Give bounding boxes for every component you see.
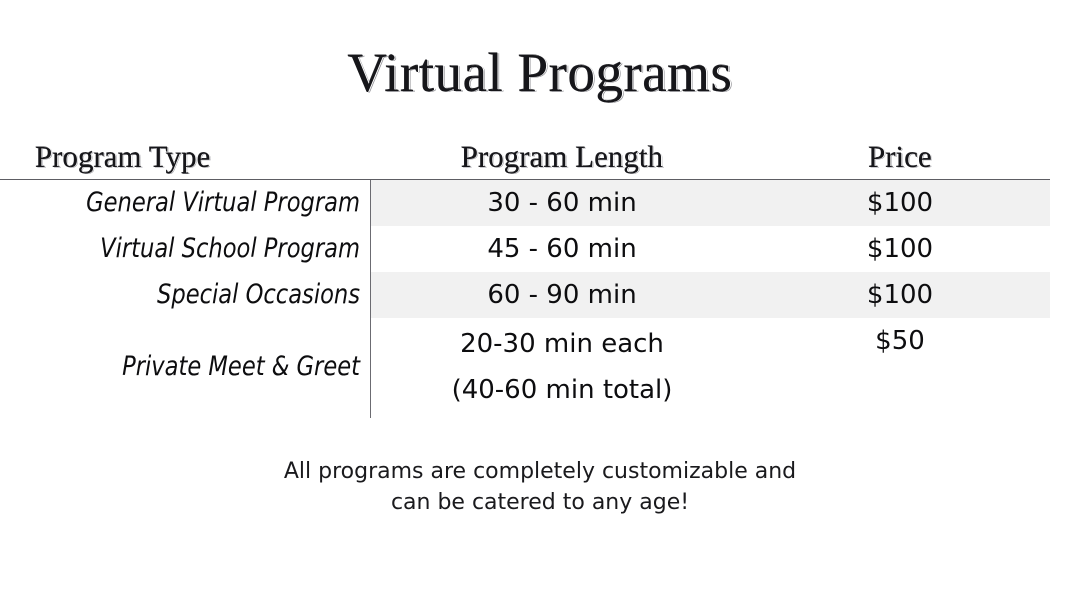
cell-program-length: 60 - 90 min — [372, 272, 752, 318]
table-row: Special Occasions60 - 90 min$100 — [0, 272, 1080, 318]
cell-program-length-line-1: 60 - 90 min — [487, 272, 636, 318]
table-row: Private Meet & Greet20-30 min each(40-60… — [0, 318, 1080, 416]
table-row: General Virtual Program30 - 60 min$100 — [0, 180, 1080, 226]
slide-canvas: Virtual Programs Program Type Program Le… — [0, 0, 1080, 592]
cell-program-length-line-2: (40-60 min total) — [452, 367, 673, 413]
table-body: General Virtual Program30 - 60 min$100Vi… — [0, 180, 1080, 416]
cell-program-length: 45 - 60 min — [372, 226, 752, 272]
cell-program-length-line-1: 45 - 60 min — [487, 226, 636, 272]
cell-program-length-line-1: 20-30 min each — [460, 321, 664, 367]
cell-price: $50 — [800, 318, 1000, 416]
cell-program-type: Virtual School Program — [25, 226, 360, 272]
table-header-row: Program Type Program Length Price — [0, 131, 1080, 179]
footer-note-line-2: can be catered to any age! — [0, 487, 1080, 518]
page-title: Virtual Programs — [0, 40, 1080, 106]
footer-note-line-1: All programs are completely customizable… — [0, 456, 1080, 487]
cell-program-length-line-1: 30 - 60 min — [487, 180, 636, 226]
cell-program-length: 30 - 60 min — [372, 180, 752, 226]
cell-program-type: General Virtual Program — [25, 180, 360, 226]
cell-program-length: 20-30 min each(40-60 min total) — [372, 318, 752, 416]
table-row: Virtual School Program45 - 60 min$100 — [0, 226, 1080, 272]
cell-price: $100 — [800, 272, 1000, 318]
column-header-price: Price — [800, 137, 1000, 177]
column-header-program-type: Program Type — [35, 137, 210, 177]
cell-price: $100 — [800, 226, 1000, 272]
column-header-program-length: Program Length — [372, 137, 752, 177]
cell-program-type: Private Meet & Greet — [25, 318, 360, 416]
footer-note: All programs are completely customizable… — [0, 456, 1080, 518]
cell-program-type: Special Occasions — [25, 272, 360, 318]
cell-price: $100 — [800, 180, 1000, 226]
